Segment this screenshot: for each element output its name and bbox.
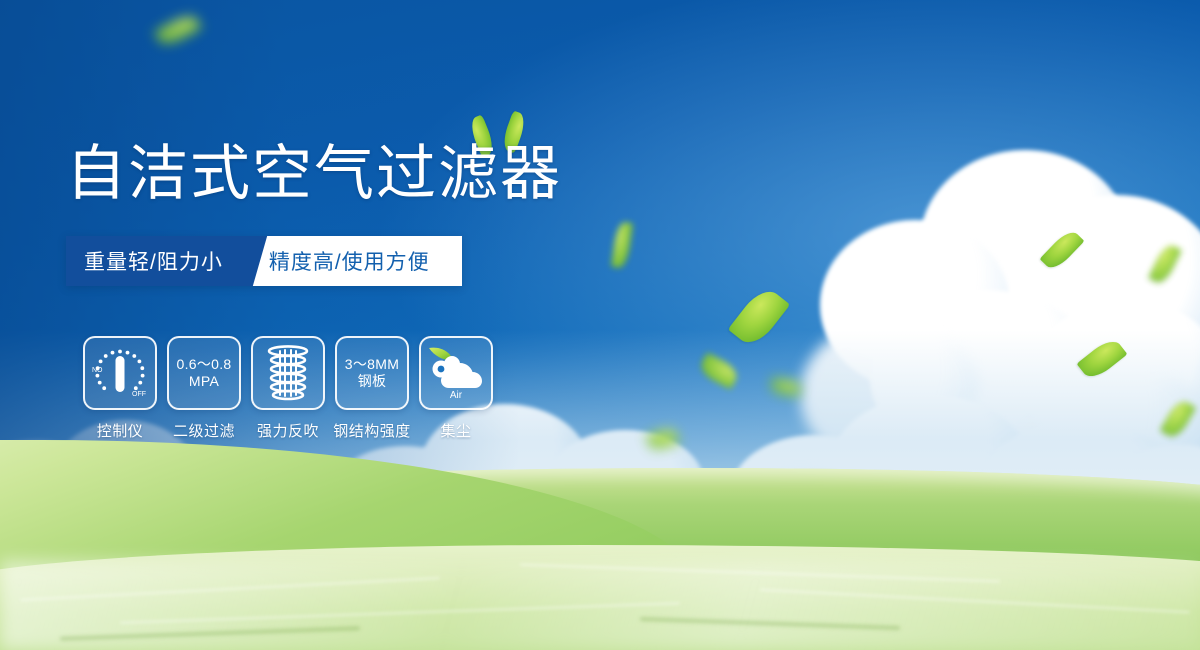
- subtitle-left-segment: 重量轻/阻力小: [66, 236, 243, 286]
- subtitle-bar: 重量轻/阻力小 精度高/使用方便: [66, 236, 462, 286]
- feature-label: 强力反吹: [246, 420, 330, 441]
- floating-leaf: [1076, 335, 1127, 382]
- feature-list: NO OFF 控制仪 0.6～0.8 MPA 二级过滤: [78, 336, 498, 441]
- floating-leaf: [697, 352, 741, 389]
- svg-text:OFF: OFF: [132, 391, 146, 398]
- pressure-value-line1: 0.6～0.8: [176, 356, 231, 373]
- feature-label: 集尘: [414, 420, 498, 441]
- feature-label: 钢结构强度: [330, 420, 414, 441]
- feature-item-backflush[interactable]: 强力反吹: [246, 336, 330, 441]
- control-dial-icon: NO OFF: [83, 336, 157, 410]
- floating-leaf: [728, 284, 791, 351]
- floating-leaf: [1160, 398, 1196, 441]
- steel-value-line1: 3～8MM: [345, 356, 399, 373]
- floating-leaf: [1040, 227, 1085, 273]
- cloud-large-right: [810, 150, 1200, 480]
- feature-item-dust-collection[interactable]: Air 集尘: [414, 336, 498, 441]
- steel-plate-text-icon: 3～8MM 钢板: [335, 336, 409, 410]
- subtitle-left-text: 重量轻/阻力小: [84, 246, 223, 276]
- subtitle-right-segment: 精度高/使用方便: [243, 236, 462, 286]
- pressure-value-line2: MPA: [189, 373, 219, 390]
- steel-value-line2: 钢板: [358, 373, 387, 390]
- hero-copy-block: 自洁式空气过滤器 重量轻/阻力小 精度高/使用方便: [0, 0, 700, 650]
- filter-cartridge-icon: [251, 336, 325, 410]
- feature-label: 二级过滤: [162, 420, 246, 441]
- floating-leaf: [770, 377, 802, 396]
- subtitle-right-text: 精度高/使用方便: [269, 246, 430, 276]
- feature-label: 控制仪: [78, 420, 162, 441]
- page-title: 自洁式空气过滤器: [66, 144, 562, 205]
- air-caption: Air: [450, 390, 463, 401]
- air-cloud-icon: Air: [419, 336, 493, 410]
- svg-text:NO: NO: [92, 367, 103, 374]
- feature-item-two-stage-filter[interactable]: 0.6～0.8 MPA 二级过滤: [162, 336, 246, 441]
- feature-item-steel-strength[interactable]: 3～8MM 钢板 钢结构强度: [330, 336, 414, 441]
- pressure-text-icon: 0.6～0.8 MPA: [167, 336, 241, 410]
- feature-item-control-dial[interactable]: NO OFF 控制仪: [78, 336, 162, 441]
- product-hero-banner: 自洁式空气过滤器 重量轻/阻力小 精度高/使用方便: [0, 0, 1200, 650]
- floating-leaf: [1148, 242, 1182, 286]
